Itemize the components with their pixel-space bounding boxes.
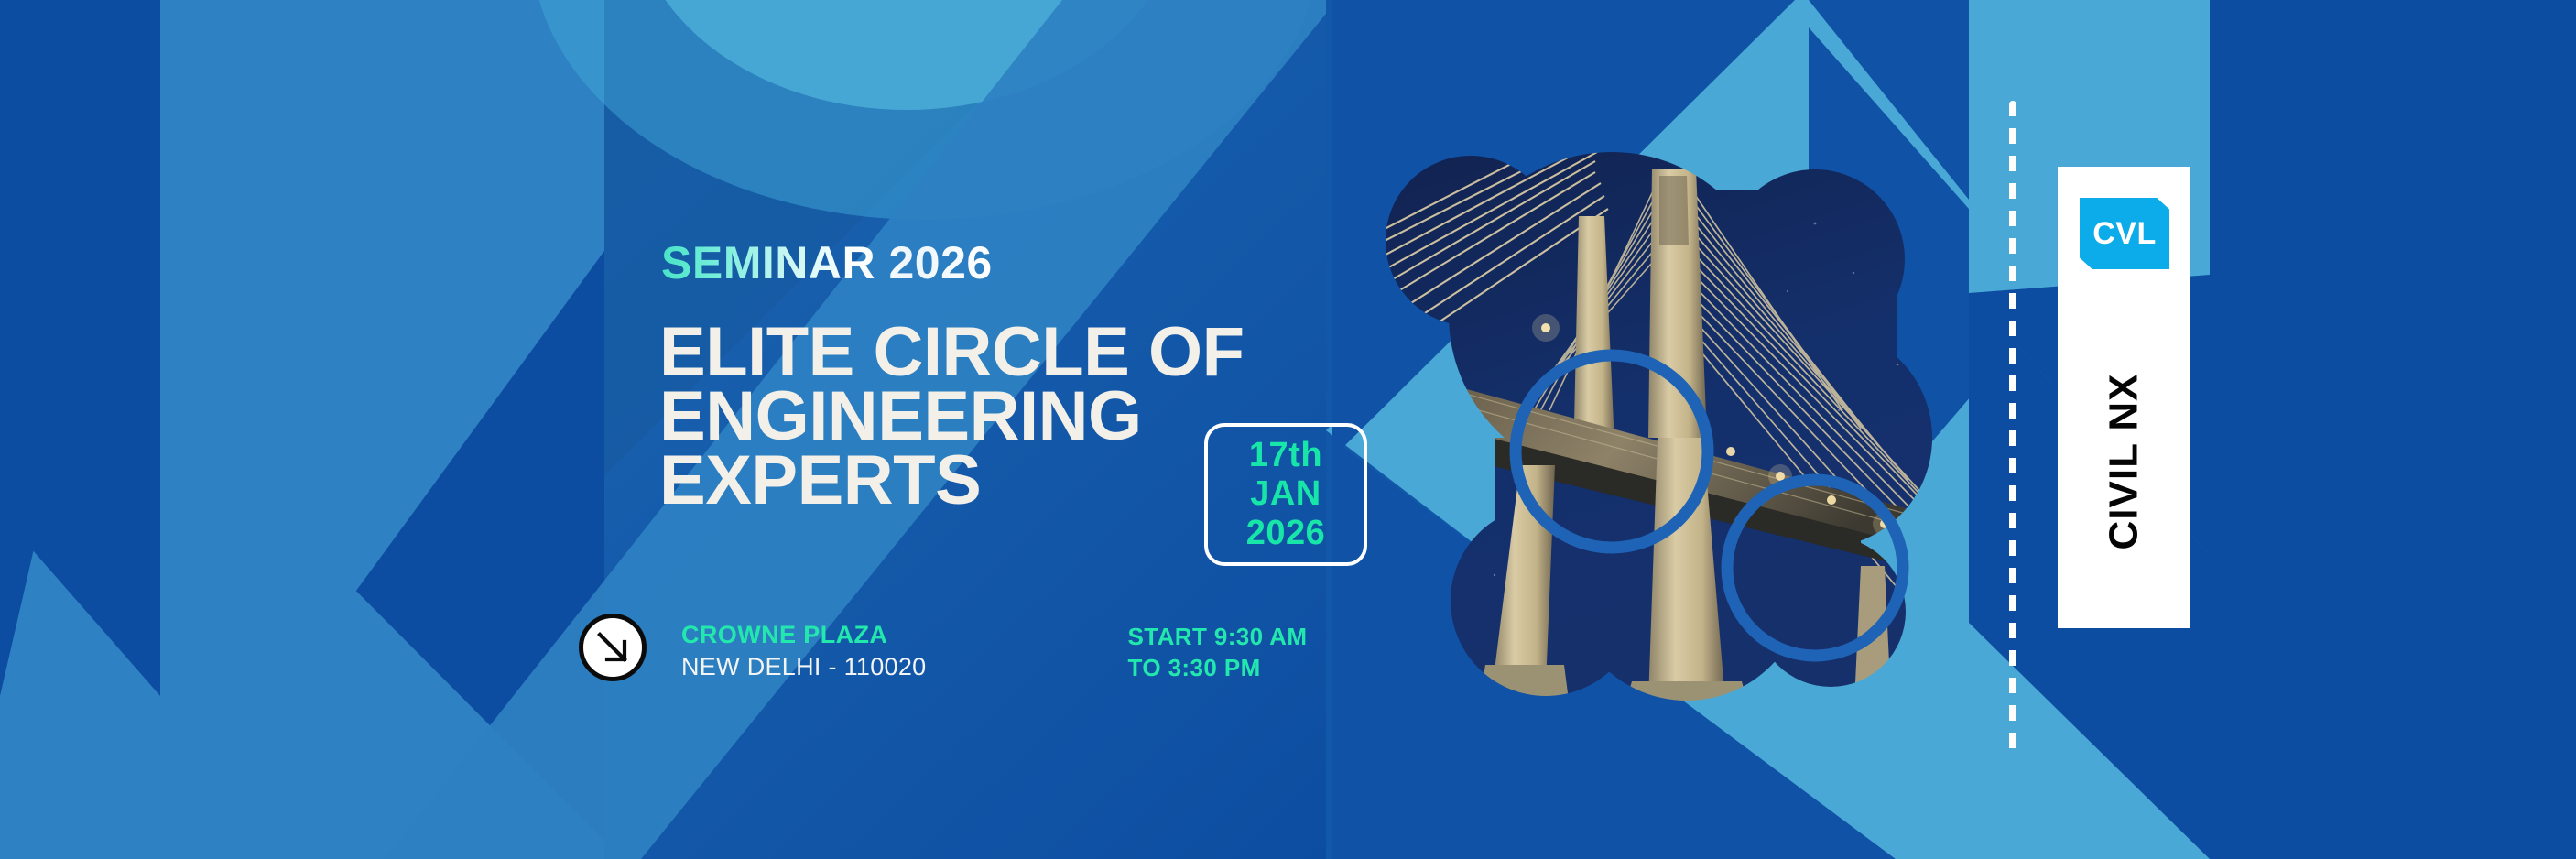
brand-logo-text: CVL [2092,218,2157,249]
event-details-row: CROWNE PLAZA NEW DELHI - 110020 START 9:… [579,612,1307,684]
timing-block: START 9:30 AM TO 3:30 PM [1128,621,1308,684]
venue-name: CROWNE PLAZA [681,619,927,651]
dashed-divider [2009,101,2016,756]
timing-start: START 9:30 AM [1128,621,1308,652]
headline-line-1: ELITE CIRCLE OF [659,321,1328,385]
seminar-banner: SEMINAR 2026 ELITE CIRCLE OF ENGINEERING… [0,0,2576,859]
date-day: 17th [1249,437,1322,474]
arrow-down-right-icon [579,614,647,681]
brand-name-text: CIVIL NX [2103,373,2144,549]
brand-card: CVL CIVIL NX [2058,167,2190,628]
date-year: 2026 [1246,515,1326,552]
date-month: JAN [1250,475,1321,513]
brand-name-vertical: CIVIL NX [2058,295,2190,628]
venue-address: NEW DELHI - 110020 [681,651,927,683]
event-date-badge: 17th JAN 2026 [1204,423,1367,566]
timing-end: TO 3:30 PM [1128,652,1308,683]
eyebrow-seminar-year: SEMINAR 2026 [661,240,993,286]
venue-block: CROWNE PLAZA NEW DELHI - 110020 [681,619,927,683]
cvl-logo-icon: CVL [2080,198,2169,269]
